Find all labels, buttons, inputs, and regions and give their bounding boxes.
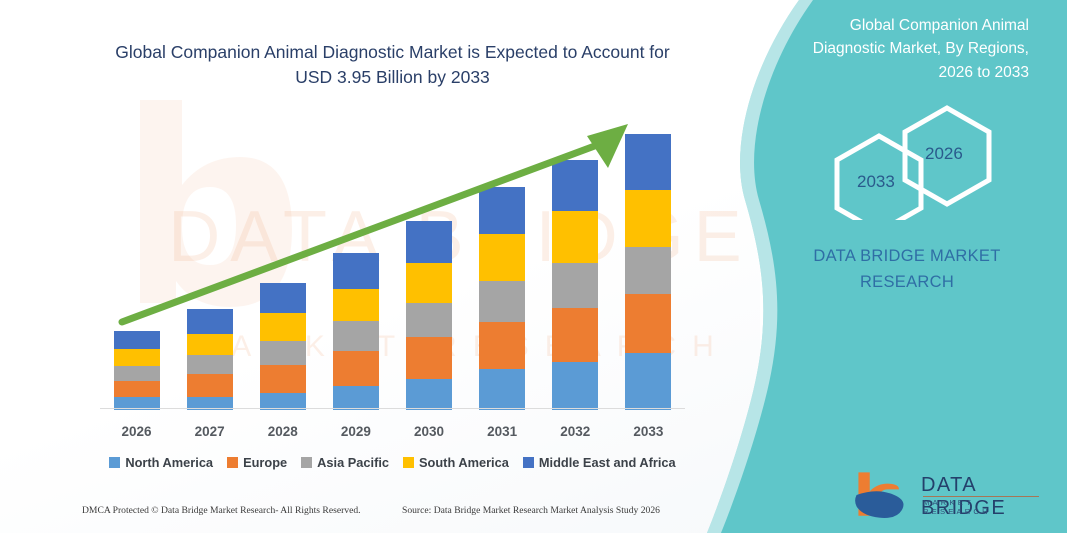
legend-swatch-icon [403,457,414,468]
hexagon-2033-label: 2033 [857,172,895,192]
bar-column [552,160,598,410]
bar-segment [406,221,452,263]
legend-label: Asia Pacific [317,455,389,470]
bar-segment [625,190,671,247]
footer-copyright: DMCA Protected © Data Bridge Market Rese… [82,505,361,516]
x-axis-label: 2033 [618,424,678,439]
bar-column [479,187,525,410]
legend-label: South America [419,455,509,470]
bar-segment [625,353,671,410]
bar-segment [406,263,452,303]
bar-segment [187,309,233,334]
bar-segment [479,322,525,369]
bar-segment [406,337,452,379]
bar-segment [333,386,379,410]
bar-segment [333,321,379,351]
bar-segment [479,369,525,410]
bar-segment [625,247,671,294]
dbmr-logo-mark-icon [849,470,915,520]
bar-column [260,283,306,410]
bar-segment [406,379,452,410]
bar-segment [260,313,306,341]
hexagon-2026-label: 2026 [925,144,963,164]
right-panel-brand: DATA BRIDGE MARKET RESEARCH [792,243,1022,296]
bar-segment [187,374,233,398]
bar-column [333,253,379,410]
bar-segment [187,334,233,355]
x-axis-labels: 20262027202820292030203120322033 [100,424,685,444]
bar-segment [114,381,160,397]
footer: DMCA Protected © Data Bridge Market Rese… [0,505,760,529]
bar-segment [187,355,233,373]
chart-legend: North AmericaEuropeAsia PacificSouth Ame… [100,455,685,470]
chart-title: Global Companion Animal Diagnostic Marke… [110,40,675,91]
legend-swatch-icon [227,457,238,468]
stacked-bar-plot [100,120,685,410]
bar-segment [406,303,452,337]
legend-item[interactable]: North America [109,455,213,470]
right-panel: Global Companion Animal Diagnostic Marke… [707,0,1067,533]
legend-label: North America [125,455,213,470]
legend-label: Middle East and Africa [539,455,676,470]
bar-segment [552,211,598,263]
x-axis-label: 2029 [326,424,386,439]
bar-segment [552,160,598,212]
bar-segment [260,283,306,313]
x-axis-label: 2032 [545,424,605,439]
x-axis-line [100,408,685,409]
bar-segment [114,331,160,349]
legend-swatch-icon [523,457,534,468]
dbmr-logo: DATA BRIDGE MARKET RESEARCH [849,468,1039,524]
x-axis-label: 2026 [107,424,167,439]
bar-segment [479,187,525,234]
x-axis-label: 2030 [399,424,459,439]
dbmr-logo-tagline: MARKET RESEARCH [923,498,1039,516]
bar-segment [333,253,379,288]
bar-segment [114,349,160,366]
infographic-stage: DATA BRIDGE MARKET RESEARCH Global Compa… [0,0,1067,533]
legend-item[interactable]: Middle East and Africa [523,455,676,470]
legend-swatch-icon [109,457,120,468]
hexagon-shapes [707,100,1067,220]
bar-segment [552,263,598,308]
bar-segment [260,365,306,393]
bar-segment [333,351,379,386]
dbmr-logo-divider [923,496,1039,497]
bar-column [114,331,160,410]
x-axis-label: 2028 [253,424,313,439]
bar-segment [625,134,671,190]
hexagon-group: 2026 2033 [707,100,1067,220]
bar-segment [479,234,525,281]
bar-column [625,134,671,410]
legend-item[interactable]: Asia Pacific [301,455,389,470]
footer-source: Source: Data Bridge Market Research Mark… [402,505,660,516]
right-panel-title: Global Companion Animal Diagnostic Marke… [777,14,1029,84]
bar-segment [552,308,598,362]
bar-segment [625,294,671,353]
bar-segment [552,362,598,410]
legend-item[interactable]: South America [403,455,509,470]
x-axis-label: 2027 [180,424,240,439]
bar-segment [333,289,379,321]
legend-swatch-icon [301,457,312,468]
legend-label: Europe [243,455,287,470]
bar-segment [479,281,525,322]
bar-column [406,221,452,410]
bar-segment [114,366,160,381]
legend-item[interactable]: Europe [227,455,287,470]
bar-column [187,309,233,410]
x-axis-label: 2031 [472,424,532,439]
chart-pane: DATA BRIDGE MARKET RESEARCH Global Compa… [0,0,760,533]
bar-segment [260,341,306,365]
